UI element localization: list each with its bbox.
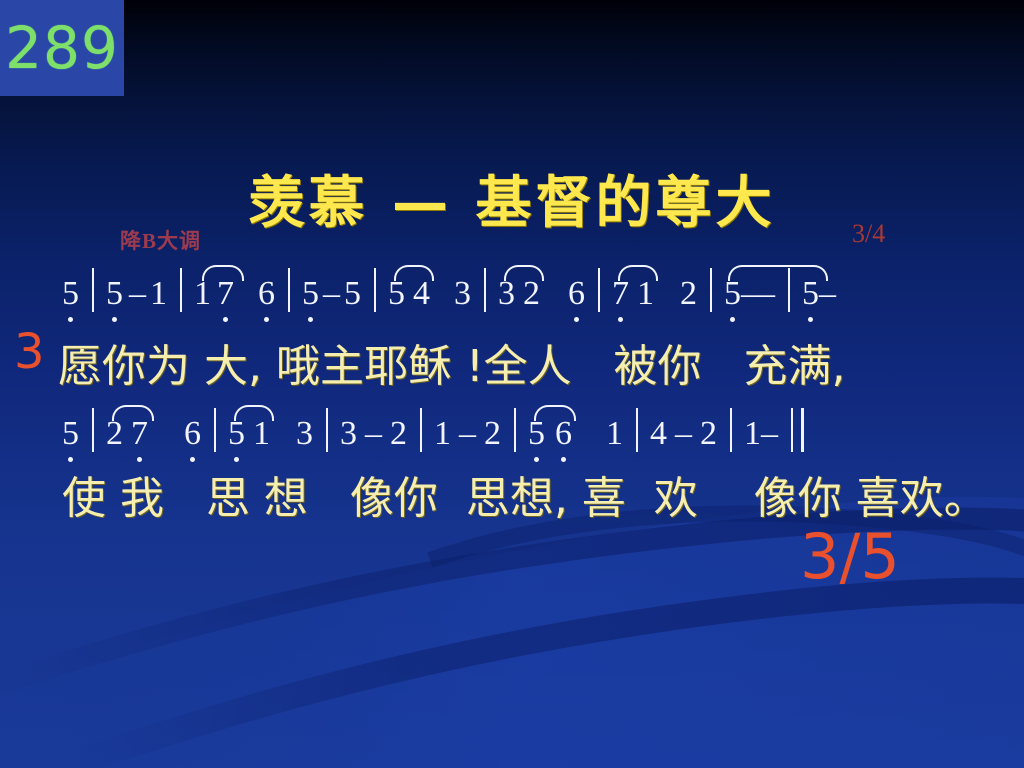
barline (288, 268, 290, 312)
barline (326, 408, 328, 452)
note: 1 (744, 415, 761, 453)
barline (374, 268, 376, 312)
note: 6 (555, 415, 572, 453)
note: 5 (62, 415, 79, 453)
time-signature-label: 3/4 (852, 219, 885, 249)
note: 5 (388, 275, 405, 313)
dash: – (365, 415, 382, 453)
note: 1 (606, 415, 623, 453)
verse-number: 3 (14, 328, 45, 376)
note: 7 (612, 275, 629, 313)
note: 3 (340, 415, 357, 453)
note: 5 (302, 275, 319, 313)
note: 1 (434, 415, 451, 453)
note: 3 (498, 275, 515, 313)
dash: – (741, 275, 758, 313)
note: 6 (568, 275, 585, 313)
note: 7 (217, 275, 234, 313)
note: 2 (680, 275, 697, 313)
note: 1 (253, 415, 270, 453)
dash: – (459, 415, 476, 453)
page-indicator: 3/5 (800, 526, 900, 588)
barline (214, 408, 216, 452)
lyrics-line-1: 愿你为 大, 哦主耶稣 !全人 被你 充满, (58, 330, 846, 394)
note: 5 (802, 275, 819, 313)
note: 5 (62, 275, 79, 313)
note: 2 (390, 415, 407, 453)
barline (92, 408, 94, 452)
note: 6 (184, 415, 201, 453)
hymn-number: 289 (5, 19, 119, 77)
note: 2 (523, 275, 540, 313)
note: 5 (106, 275, 123, 313)
note: 1 (150, 275, 167, 313)
barline (636, 408, 638, 452)
hymn-number-badge: 289 (0, 0, 124, 96)
note: 1 (637, 275, 654, 313)
note: 7 (131, 415, 148, 453)
final-barline (791, 408, 804, 452)
music-notation-line-2: 5 27 6 51 3 3–2 1–2 56 1 4–2 1– (62, 408, 808, 466)
note: 5 (344, 275, 361, 313)
note: 5 (228, 415, 245, 453)
note: 4 (650, 415, 667, 453)
note: 5 (724, 275, 741, 313)
note: 5 (528, 415, 545, 453)
barline (710, 268, 712, 312)
barline (484, 268, 486, 312)
dash: – (758, 275, 775, 313)
note: 3 (296, 415, 313, 453)
key-signature-label: 降B大调 (120, 225, 201, 255)
note: 2 (484, 415, 501, 453)
dash: – (323, 275, 340, 313)
note: 2 (106, 415, 123, 453)
barline (514, 408, 516, 452)
barline (92, 268, 94, 312)
music-notation-line-1: 5 5–1 17 6 5–5 54 3 32 6 71 2 5–– 5– (62, 268, 836, 326)
note: 3 (454, 275, 471, 313)
barline (420, 408, 422, 452)
note: 4 (413, 275, 430, 313)
note: 1 (194, 275, 211, 313)
dash: – (129, 275, 146, 313)
note: 2 (700, 415, 717, 453)
barline (180, 268, 182, 312)
note: 6 (258, 275, 275, 313)
barline (730, 408, 732, 452)
dash: – (761, 415, 778, 453)
dash: – (675, 415, 692, 453)
lyrics-line-2: 使 我 思 想 像你 思想, 喜 欢 像你 喜欢。 (62, 462, 988, 526)
dash: – (819, 275, 836, 313)
barline (598, 268, 600, 312)
presentation-slide: 289 羡慕 — 基督的尊大 降B大调 3/4 5 5–1 17 6 5–5 5… (0, 0, 1024, 768)
